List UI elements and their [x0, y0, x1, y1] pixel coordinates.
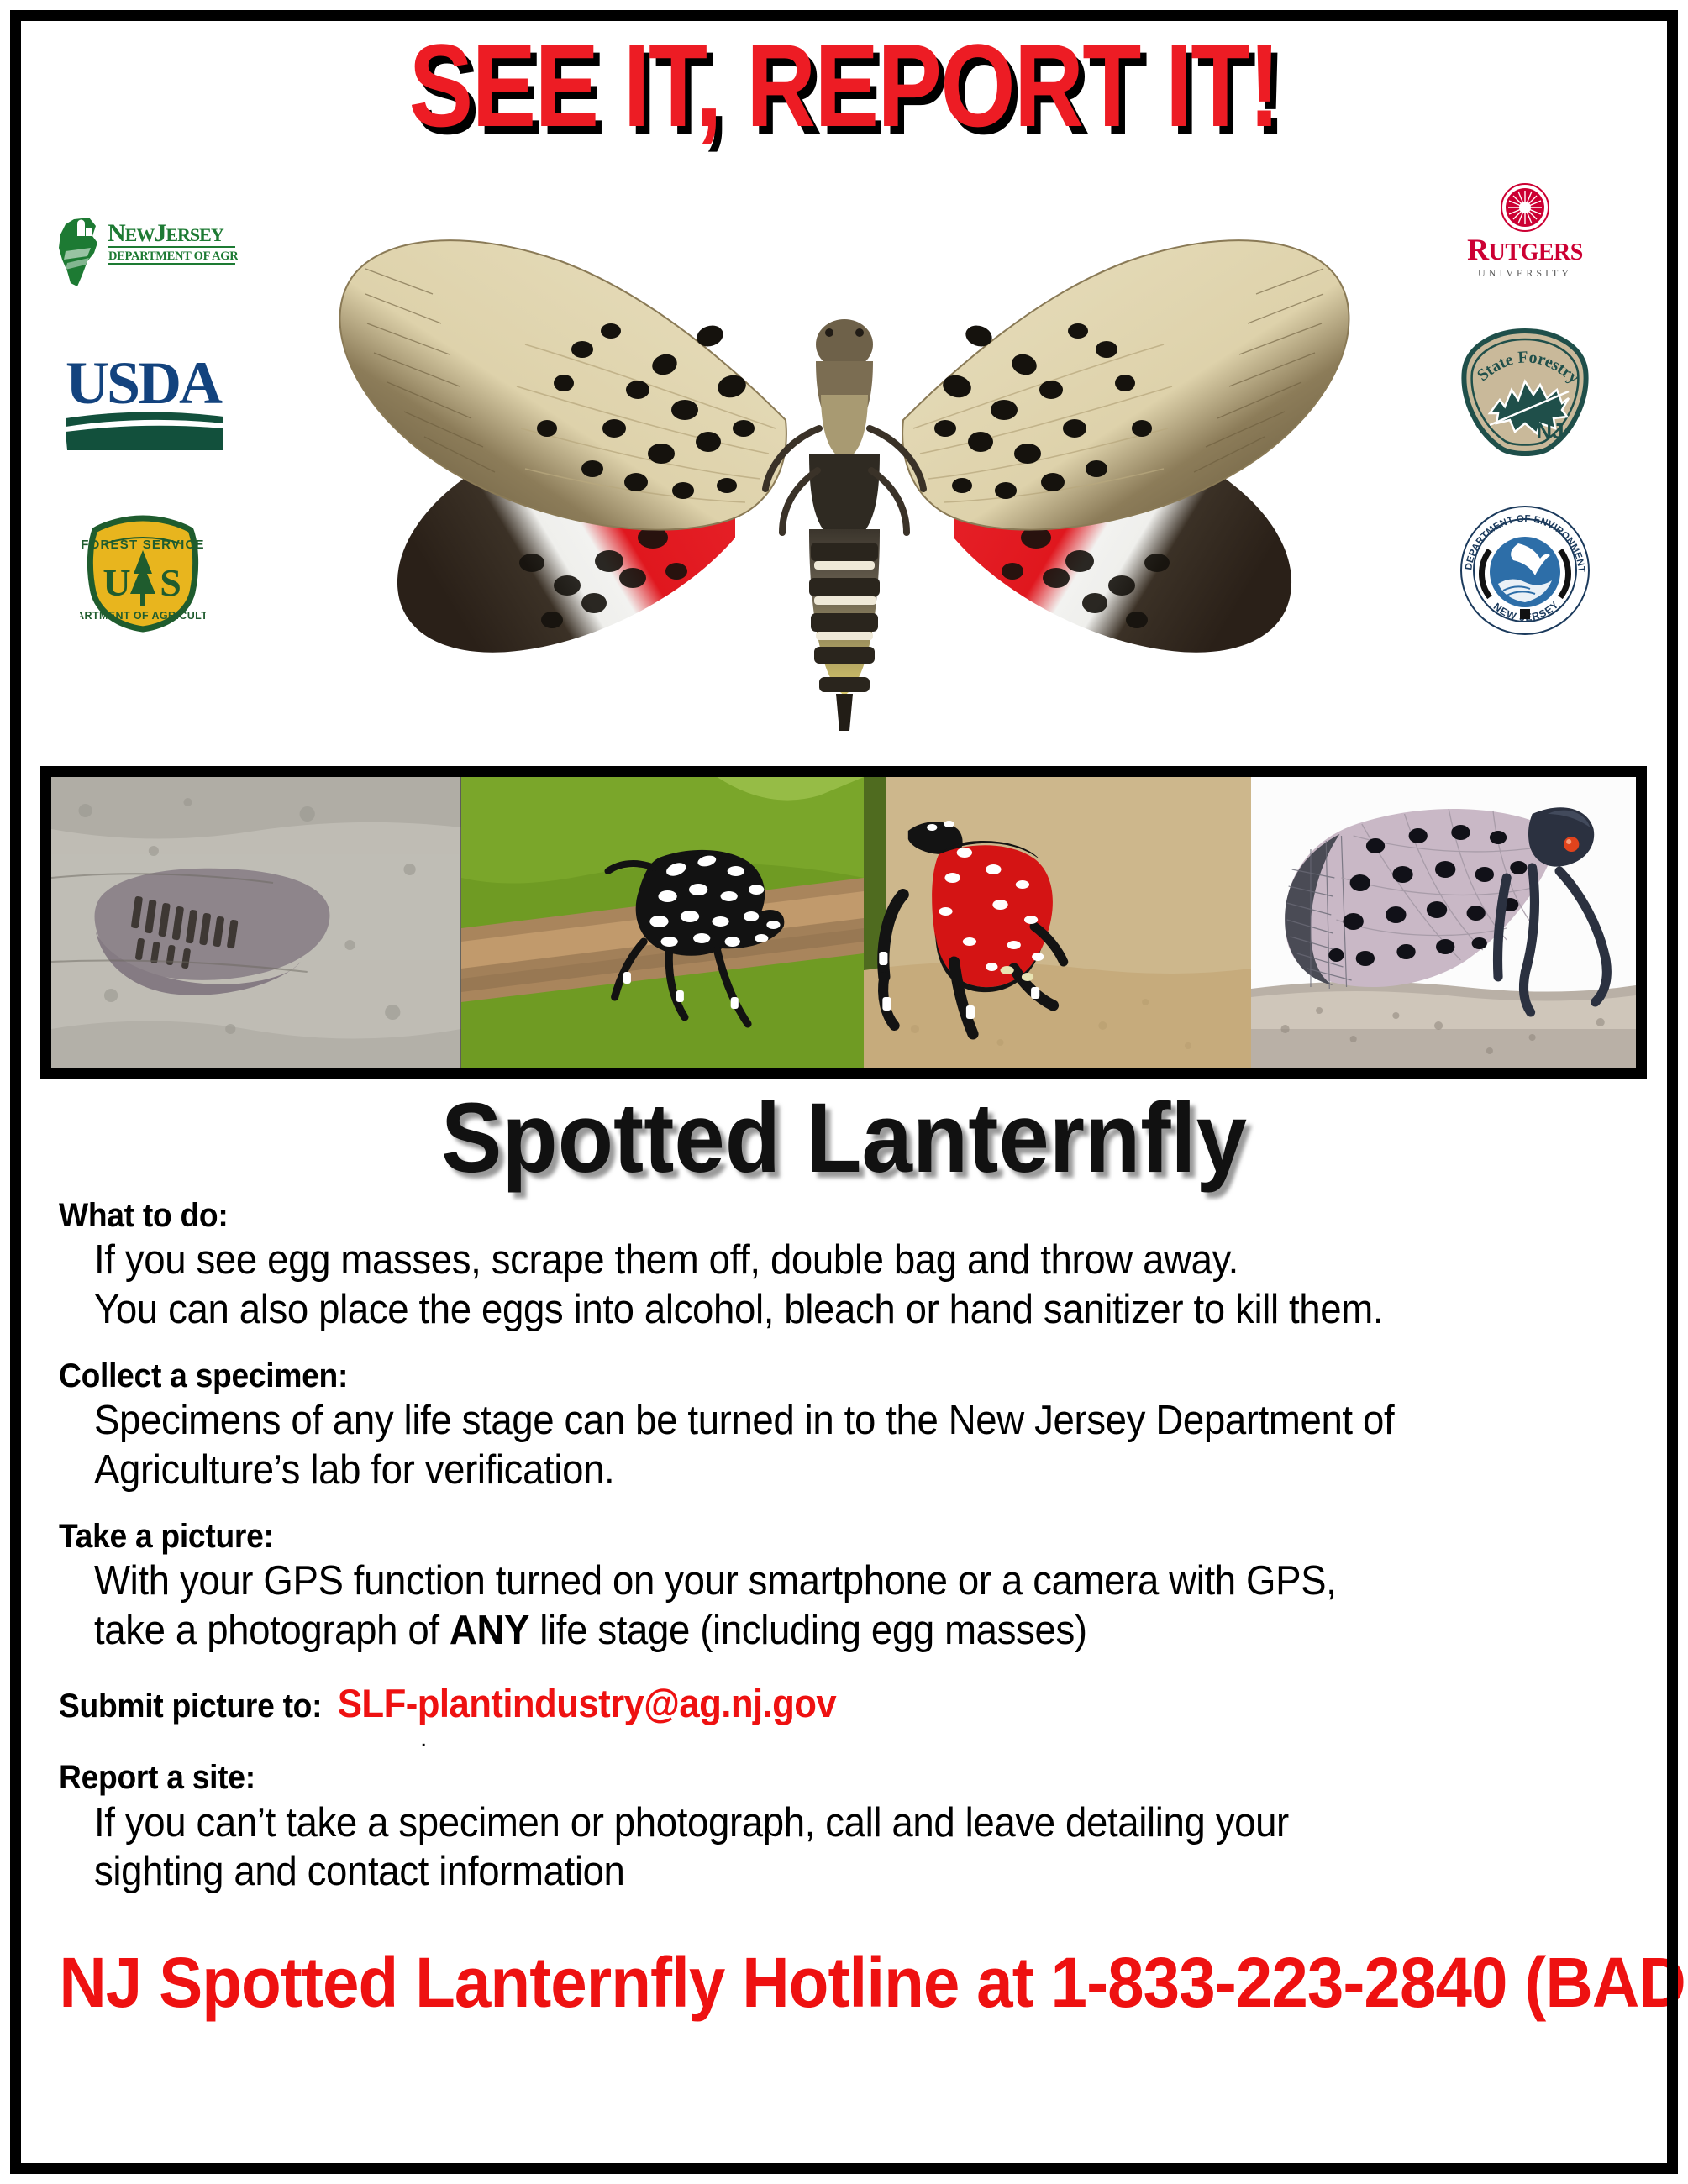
section-report-a-site: Report a site: If you can’t take a speci…: [59, 1758, 1638, 1897]
submit-picture-row: Submit picture to: SLF-plantindustry@ag.…: [59, 1680, 1528, 1726]
take-picture-line-1: With your GPS function turned on your sm…: [94, 1557, 1530, 1606]
report-site-heading: Report a site:: [59, 1758, 1528, 1798]
collect-specimen-body: Specimens of any life stage can be turne…: [94, 1396, 1530, 1495]
early-instar-nymph-photo: [461, 777, 864, 1068]
hero-insect-area: [25, 168, 1663, 748]
report-site-body: If you can’t take a specimen or photogra…: [94, 1798, 1530, 1898]
late-instar-nymph-photo: [864, 777, 1251, 1068]
section-collect-a-specimen: Collect a specimen: Specimens of any lif…: [59, 1357, 1638, 1495]
collect-specimen-line-1: Specimens of any life stage can be turne…: [94, 1396, 1530, 1446]
report-site-line-2: sighting and contact information: [94, 1847, 1530, 1897]
section-take-a-picture: Take a picture: With your GPS function t…: [59, 1517, 1638, 1656]
hotline-banner: NJ Spotted Lanternfly Hotline at 1-833-2…: [59, 1945, 1628, 2019]
what-to-do-line-1: If you see egg masses, scrape them off, …: [94, 1236, 1530, 1285]
take-picture-body: With your GPS function turned on your sm…: [94, 1557, 1530, 1656]
what-to-do-heading: What to do:: [59, 1196, 1528, 1236]
spotted-lanternfly-poster: SEE IT, REPORT IT! NEWJERSEY DEPARTMENT …: [0, 0, 1688, 2184]
emphasis-any: ANY: [450, 1608, 529, 1653]
life-stage-photo-strip: [40, 766, 1647, 1079]
submit-picture-label: Submit picture to:: [59, 1688, 322, 1725]
report-site-line-1: If you can’t take a specimen or photogra…: [94, 1798, 1530, 1848]
section-title: Spotted Lanternfly: [67, 1089, 1620, 1188]
adult-folded-wings-photo: [1251, 777, 1636, 1068]
take-picture-line-2: take a photograph of ANY life stage (inc…: [94, 1606, 1530, 1656]
collect-specimen-heading: Collect a specimen:: [59, 1357, 1528, 1396]
spotted-lanternfly-adult-wings-open-photo: [315, 176, 1374, 756]
stray-period-mark: .: [420, 1730, 1638, 1753]
egg-mass-photo: [51, 777, 461, 1068]
take-picture-heading: Take a picture:: [59, 1517, 1528, 1557]
section-what-to-do: What to do: If you see egg masses, scrap…: [59, 1196, 1638, 1335]
what-to-do-body: If you see egg masses, scrape them off, …: [94, 1236, 1530, 1335]
instructions-body: What to do: If you see egg masses, scrap…: [59, 1196, 1638, 1908]
what-to-do-line-2: You can also place the eggs into alcohol…: [94, 1285, 1530, 1335]
submit-picture-email[interactable]: SLF-plantindustry@ag.nj.gov: [338, 1680, 836, 1726]
collect-specimen-line-2: Agriculture’s lab for verification.: [94, 1446, 1530, 1495]
page-title: SEE IT, REPORT IT!: [152, 27, 1536, 144]
